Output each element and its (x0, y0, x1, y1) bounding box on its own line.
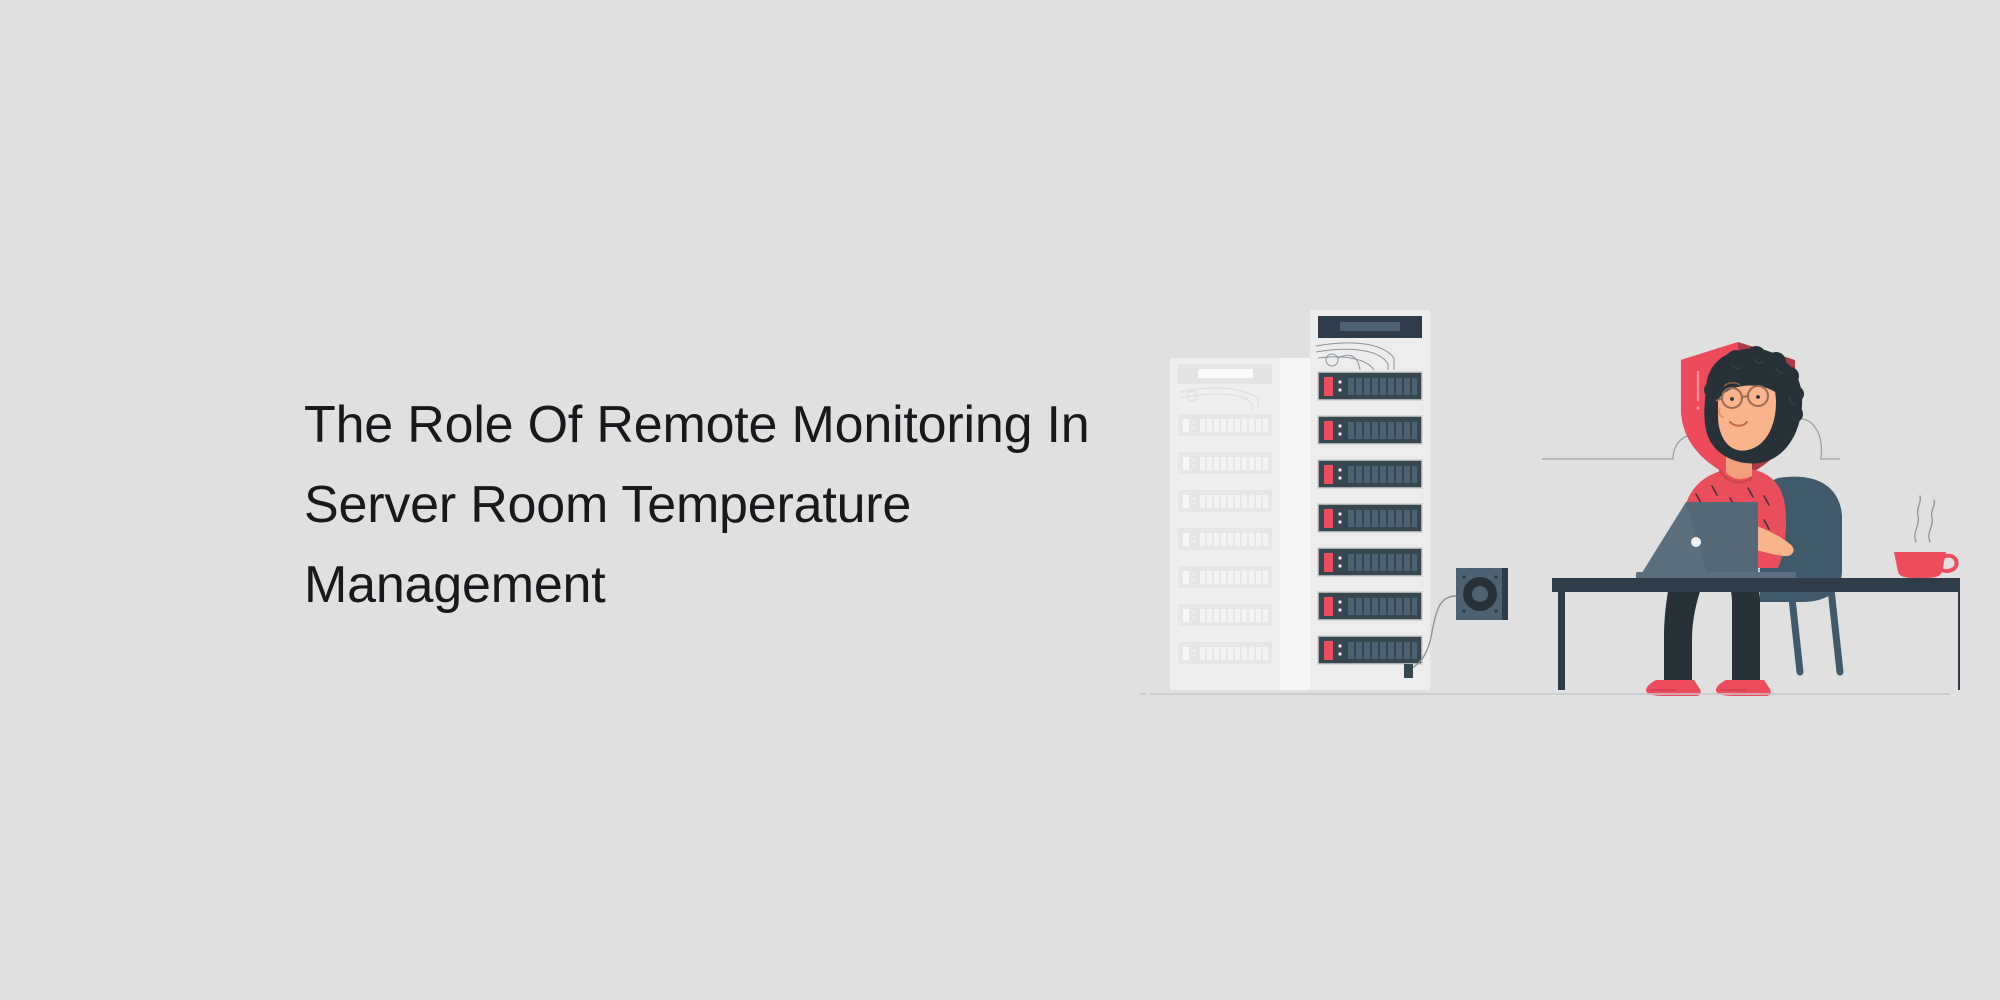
server-unit (1318, 636, 1422, 664)
illustration-canvas (1140, 280, 1960, 710)
server-unit (1318, 416, 1422, 444)
server-unit (1318, 372, 1422, 400)
server-status-led (1324, 421, 1333, 440)
server-status-led (1324, 641, 1333, 660)
server-unit (1318, 460, 1422, 488)
server-unit (1318, 548, 1422, 576)
cooling-fan (1456, 568, 1508, 620)
page-root: The Role Of Remote Monitoring In Server … (0, 0, 2000, 1000)
hero-illustration (1140, 280, 1960, 710)
server-status-led (1324, 509, 1333, 528)
server-status-led (1324, 465, 1333, 484)
server-unit (1318, 504, 1422, 532)
coffee-cup (1894, 496, 1957, 578)
page-title: The Role Of Remote Monitoring In Server … (304, 385, 1104, 625)
background-rack (1170, 358, 1310, 690)
server-status-led (1324, 377, 1333, 396)
server-status-led (1324, 553, 1333, 572)
server-unit (1318, 592, 1422, 620)
laptop-logo (1691, 537, 1701, 547)
foreground-rack (1310, 310, 1430, 690)
cable-plug (1404, 664, 1413, 678)
server-status-led (1324, 597, 1333, 616)
steam (1915, 496, 1935, 542)
